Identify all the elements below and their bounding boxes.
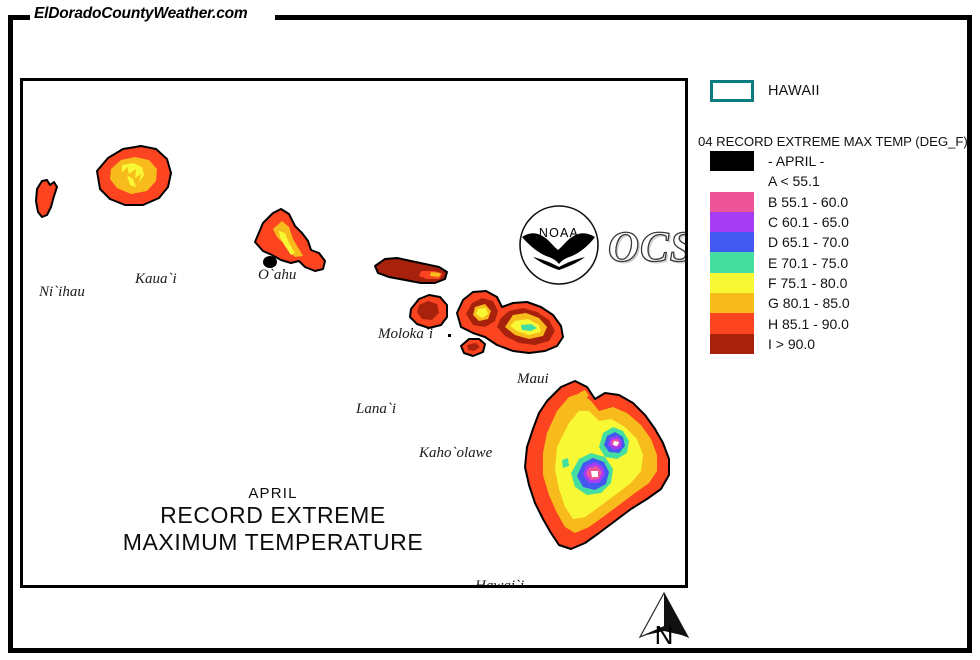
legend-class-list: - APRIL - A < 55.1 B 55.1 - 60.0 C 60.1 … [698, 151, 974, 354]
island-label-kauai: Kaua`i [135, 271, 177, 288]
legend-label: F 75.1 - 80.0 [768, 275, 847, 291]
island-hawaii [525, 381, 669, 549]
legend-row: - APRIL - [698, 151, 974, 171]
legend-row: D 65.1 - 70.0 [698, 232, 974, 252]
legend-swatch [710, 313, 754, 333]
legend-row: F 75.1 - 80.0 [698, 273, 974, 293]
legend-area-row: HAWAII [710, 78, 974, 104]
outer-frame-bottom [8, 648, 972, 653]
island-oahu [255, 209, 325, 271]
legend-label: I > 90.0 [768, 336, 815, 352]
legend-row: C 60.1 - 65.0 [698, 212, 974, 232]
legend-row: E 70.1 - 75.0 [698, 252, 974, 272]
site-title: ElDoradoCountyWeather.com [34, 5, 247, 23]
island-kauai [97, 146, 171, 205]
legend-label: H 85.1 - 90.0 [768, 316, 849, 332]
legend-label: G 80.1 - 85.0 [768, 295, 850, 311]
map-legend: HAWAII 04 RECORD EXTREME MAX TEMP (DEG_F… [698, 78, 974, 354]
legend-swatch [710, 293, 754, 313]
legend-swatch [710, 151, 754, 171]
map-panel: .cA { fill:#ffffff; } .cB { fill:#ee5599… [20, 78, 688, 588]
legend-label: D 65.1 - 70.0 [768, 234, 849, 250]
legend-area-swatch [710, 80, 754, 102]
legend-swatch [710, 273, 754, 293]
svg-text:NOAA: NOAA [539, 226, 579, 240]
legend-swatch [710, 212, 754, 232]
legend-swatch [710, 334, 754, 354]
legend-label: - APRIL - [768, 153, 824, 169]
island-label-oahu: O`ahu [258, 267, 296, 284]
legend-row: H 85.1 - 90.0 [698, 313, 974, 333]
legend-row: I > 90.0 [698, 334, 974, 354]
island-label-molokai: Moloka`i [378, 326, 433, 343]
outer-frame-top-right-rule [275, 15, 972, 20]
island-label-lanai: Lana`i [356, 401, 396, 418]
island-molokai [375, 258, 447, 283]
noaa-logo-icon: NOAA [515, 201, 603, 289]
island-label-hawaii: Hawai`i [475, 578, 524, 588]
screenshot-root: ElDoradoCountyWeather.com .cA { fill:#ff… [0, 0, 980, 660]
island-lanai [410, 295, 447, 328]
legend-row: A < 55.1 [698, 171, 974, 191]
legend-label: E 70.1 - 75.0 [768, 255, 848, 271]
legend-label: A < 55.1 [768, 173, 820, 189]
island-label-maui: Maui [517, 371, 549, 388]
legend-heading: 04 RECORD EXTREME MAX TEMP (DEG_F) [698, 134, 974, 149]
legend-row: B 55.1 - 60.0 [698, 192, 974, 212]
legend-label: C 60.1 - 65.0 [768, 214, 849, 230]
legend-swatch [710, 232, 754, 252]
island-label-kahoolawe: Kaho`olawe [419, 445, 492, 462]
ocs-logo: OCS [608, 223, 688, 272]
legend-area-label: HAWAII [768, 83, 820, 99]
island-label-niihau: Ni`ihau [39, 284, 85, 301]
map-title-line1: RECORD EXTREME [43, 503, 503, 529]
island-kahoolawe [448, 334, 485, 356]
map-title-line2: MAXIMUM TEMPERATURE [43, 530, 503, 556]
north-arrow-label: N [636, 622, 692, 648]
outer-frame-left [8, 15, 13, 653]
outer-frame-top-left-stub [8, 15, 30, 20]
legend-swatch [710, 171, 754, 191]
legend-swatch [710, 192, 754, 212]
map-title-month: APRIL [43, 485, 503, 502]
map-title: APRIL RECORD EXTREME MAXIMUM TEMPERATURE [43, 485, 503, 556]
legend-swatch [710, 252, 754, 272]
legend-row: G 80.1 - 85.0 [698, 293, 974, 313]
legend-label: B 55.1 - 60.0 [768, 194, 848, 210]
island-niihau [36, 180, 57, 217]
